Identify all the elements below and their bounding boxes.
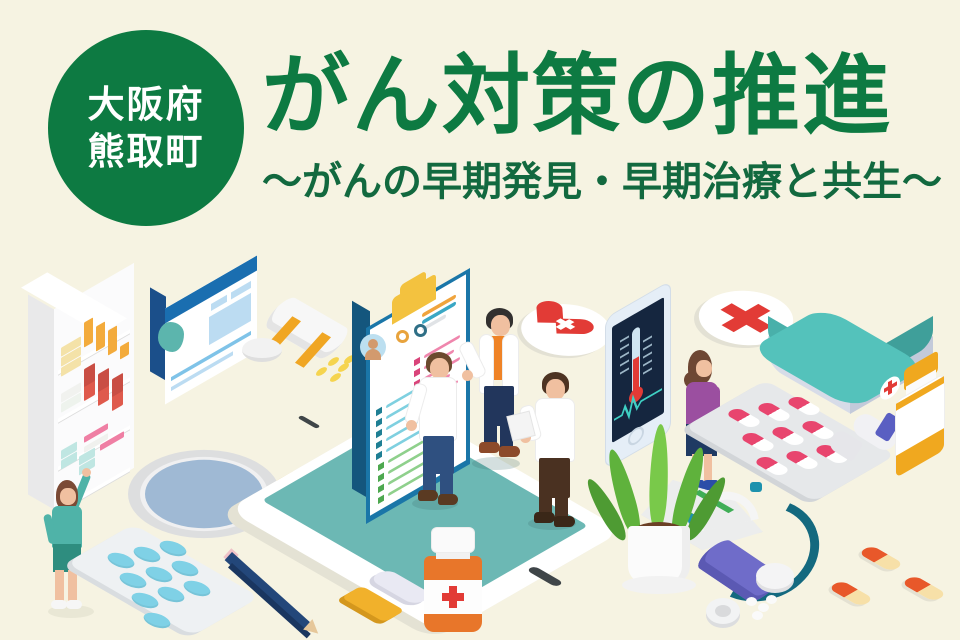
purple-pill-bottle-icon (702, 545, 812, 625)
health-promotion-banner: 大阪府 熊取町 がん対策の推進 〜がんの早期発見・早期治療と共生〜 (0, 0, 960, 640)
capsule-icon (858, 545, 905, 572)
potted-plant-icon (614, 430, 704, 590)
medicine-bottle-center-icon (418, 528, 498, 640)
spilled-pill-bottle-icon (242, 302, 362, 392)
page-subtitle: 〜がんの早期発見・早期治療と共生〜 (262, 158, 922, 206)
medical-illustration (0, 250, 960, 640)
badge-prefecture: 大阪府 (88, 82, 205, 127)
medicine-bottle-right-icon (890, 360, 960, 490)
heart-health-icon (528, 292, 608, 362)
page-title: がん対策の推進 (262, 48, 922, 143)
doctor-right-figure (522, 370, 596, 528)
capsule-icon (901, 575, 948, 602)
banner-header: 大阪府 熊取町 がん対策の推進 〜がんの早期発見・早期治療と共生〜 (0, 0, 960, 250)
badge-town: 熊取町 (88, 129, 205, 174)
municipality-badge: 大阪府 熊取町 (48, 30, 244, 226)
